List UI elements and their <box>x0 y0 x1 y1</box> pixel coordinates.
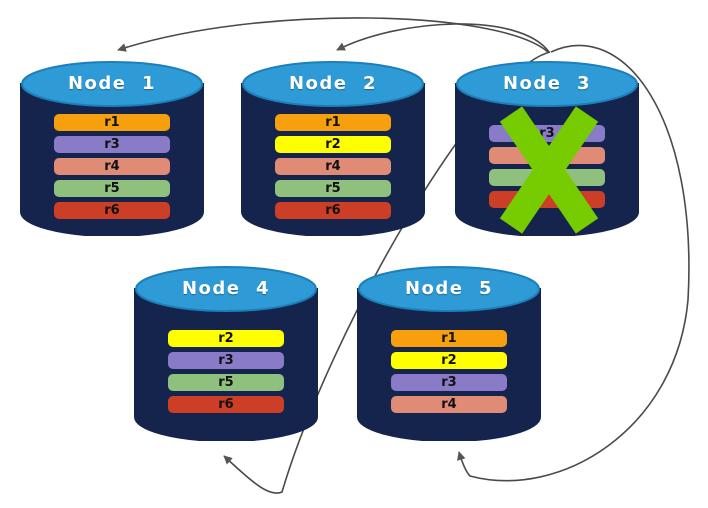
database-node-4[interactable]: Node 4r2r3r5r6 <box>134 265 318 441</box>
diagram-canvas: Node 1r1r3r4r5r6Node 2r1r2r4r5r6Node 3r3… <box>0 0 708 508</box>
node-label: Node 5 <box>357 278 541 299</box>
shard-bar[interactable]: r5 <box>54 180 170 197</box>
shard-bar[interactable]: r6 <box>54 202 170 219</box>
shard-bar[interactable]: r5 <box>275 180 391 197</box>
node-label: Node 2 <box>241 73 425 94</box>
node-label: Node 1 <box>20 73 204 94</box>
shard-bar[interactable]: r3 <box>168 352 284 369</box>
database-node-5[interactable]: Node 5r1r2r3r4 <box>357 265 541 441</box>
node-failure-x-icon <box>499 106 599 234</box>
arrow-node3-to-node1 <box>118 18 548 52</box>
database-node-2[interactable]: Node 2r1r2r4r5r6 <box>241 60 425 236</box>
shard-bar[interactable]: r6 <box>275 202 391 219</box>
shard-bar[interactable]: r4 <box>275 158 391 175</box>
shard-bar[interactable]: r2 <box>391 352 507 369</box>
arrow-node3-to-node2 <box>337 24 549 52</box>
node-label: Node 3 <box>455 73 639 94</box>
shard-bar[interactable]: r2 <box>275 136 391 153</box>
shard-bar[interactable]: r3 <box>54 136 170 153</box>
shard-list: r1r2r4r5r6 <box>241 114 425 219</box>
shard-bar[interactable]: r1 <box>275 114 391 131</box>
database-node-1[interactable]: Node 1r1r3r4r5r6 <box>20 60 204 236</box>
shard-bar[interactable]: r1 <box>54 114 170 131</box>
shard-bar[interactable]: r2 <box>168 330 284 347</box>
shard-bar[interactable]: r4 <box>391 396 507 413</box>
shard-bar[interactable]: r4 <box>54 158 170 175</box>
shard-bar[interactable]: r5 <box>168 374 284 391</box>
shard-list: r1r3r4r5r6 <box>20 114 204 219</box>
shard-bar[interactable]: r3 <box>391 374 507 391</box>
database-node-3[interactable]: Node 3r3 <box>455 60 639 236</box>
shard-list: r1r2r3r4 <box>357 330 541 413</box>
shard-bar[interactable]: r1 <box>391 330 507 347</box>
node-label: Node 4 <box>134 278 318 299</box>
shard-list: r2r3r5r6 <box>134 330 318 413</box>
shard-bar[interactable]: r6 <box>168 396 284 413</box>
